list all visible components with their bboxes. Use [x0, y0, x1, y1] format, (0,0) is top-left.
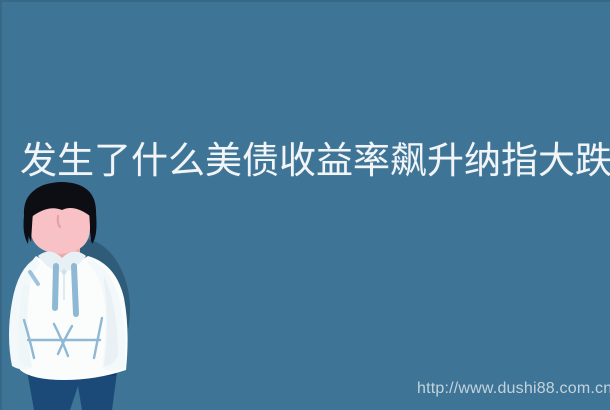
- hoodie: [9, 251, 128, 380]
- person-illustration-svg: [0, 180, 150, 410]
- poster-canvas: 发生了什么美债收益率飙升纳指大跌近3 http://www.dushi88.co…: [0, 0, 610, 410]
- person-illustration: [0, 180, 150, 410]
- headline-text: 发生了什么美债收益率飙升纳指大跌近3: [20, 139, 595, 183]
- watermark-url: http://www.dushi88.com.cn: [417, 379, 610, 399]
